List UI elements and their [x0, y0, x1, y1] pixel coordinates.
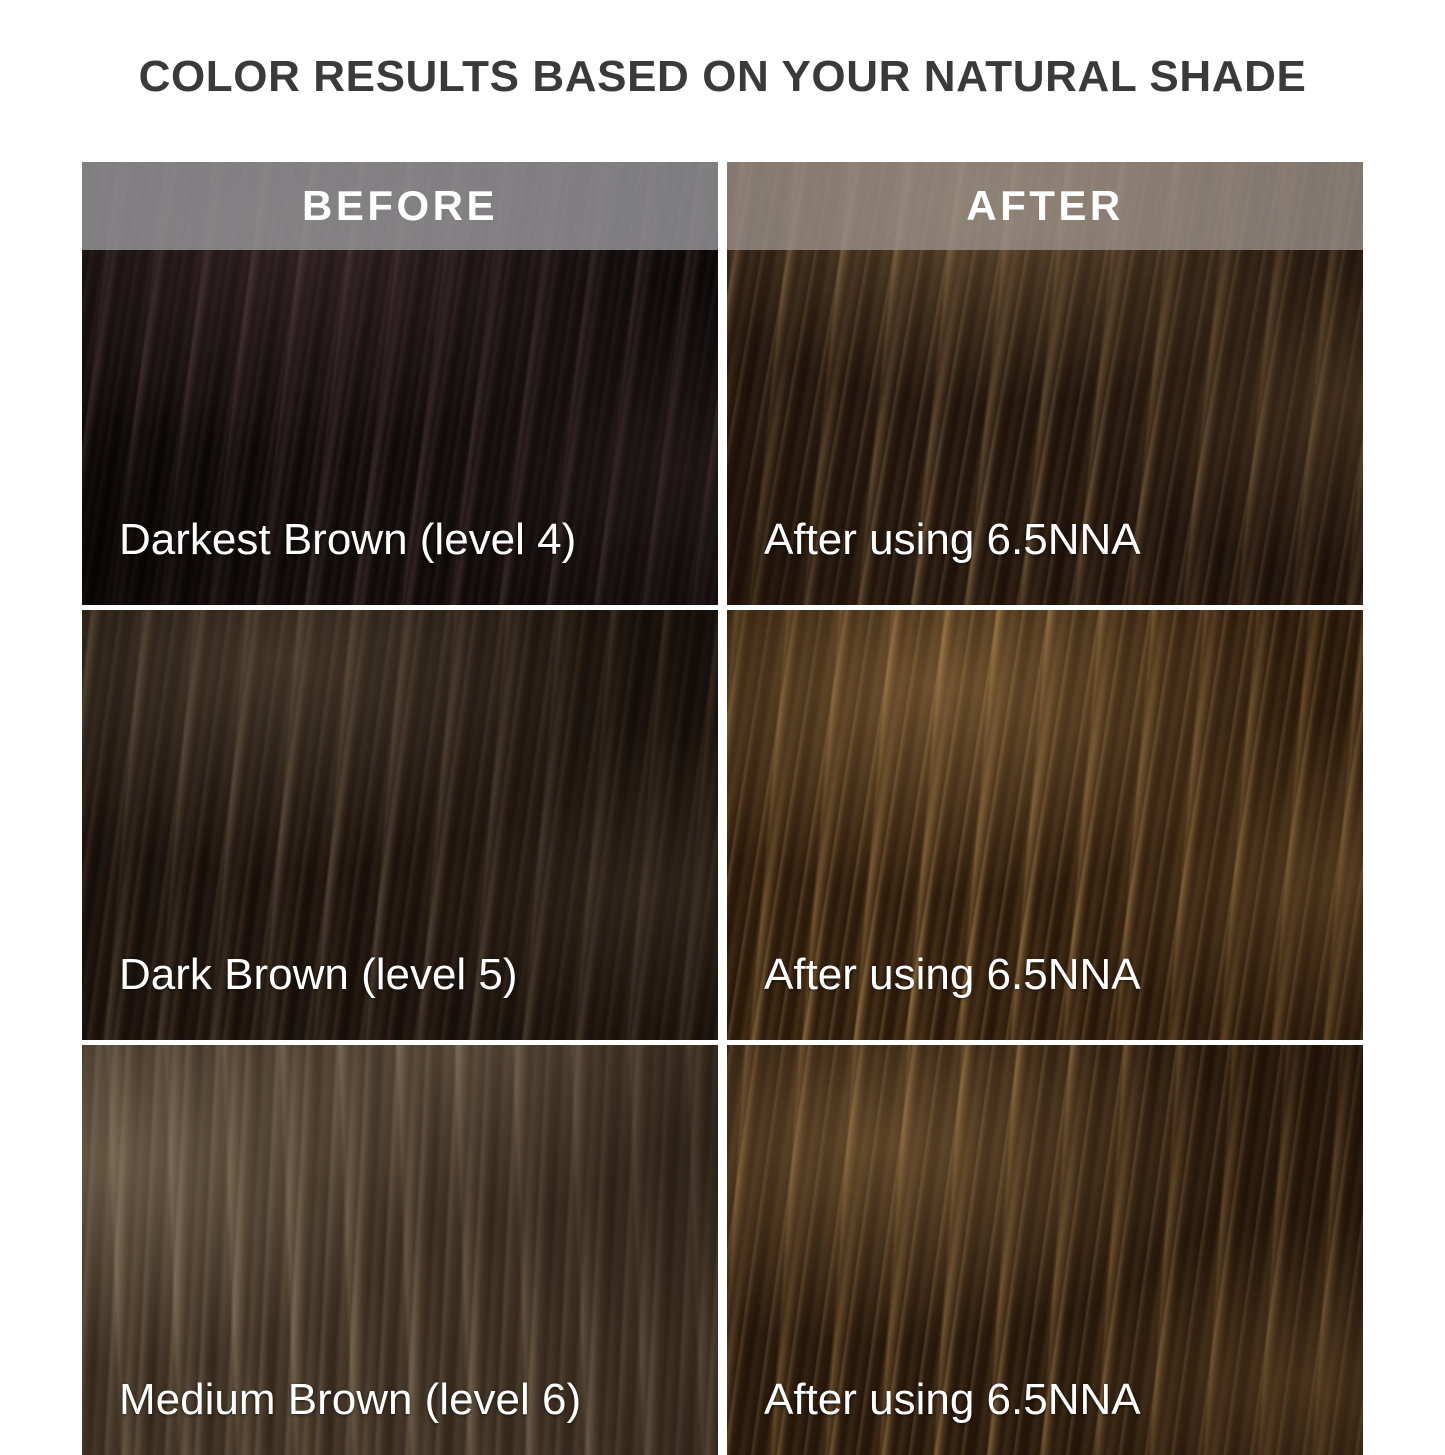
color-results-infographic: COLOR RESULTS BASED ON YOUR NATURAL SHAD…: [0, 0, 1445, 1445]
caption-after-level-4: After using 6.5NNA: [764, 515, 1141, 565]
cell-before-level-5: Dark Brown (level 5): [82, 610, 718, 1040]
column-header-after-label: AFTER: [966, 182, 1124, 230]
caption-after-level-6: After using 6.5NNA: [764, 1375, 1141, 1425]
column-header-before: BEFORE: [82, 162, 718, 250]
caption-before-level-5: Dark Brown (level 5): [119, 950, 518, 1000]
page-title: COLOR RESULTS BASED ON YOUR NATURAL SHAD…: [0, 52, 1445, 102]
column-header-before-label: BEFORE: [302, 182, 498, 230]
cell-after-level-4: AFTER After using 6.5NNA: [727, 162, 1363, 605]
cell-before-level-4: BEFORE Darkest Brown (level 4): [82, 162, 718, 605]
cell-before-level-6: Medium Brown (level 6): [82, 1045, 718, 1455]
column-header-after: AFTER: [727, 162, 1363, 250]
cell-after-level-5: After using 6.5NNA: [727, 610, 1363, 1040]
caption-before-level-4: Darkest Brown (level 4): [119, 515, 576, 565]
before-after-grid: BEFORE Darkest Brown (level 4) AFTER Aft…: [82, 162, 1363, 1445]
cell-after-level-6: After using 6.5NNA: [727, 1045, 1363, 1455]
caption-after-level-5: After using 6.5NNA: [764, 950, 1141, 1000]
caption-before-level-6: Medium Brown (level 6): [119, 1375, 581, 1425]
